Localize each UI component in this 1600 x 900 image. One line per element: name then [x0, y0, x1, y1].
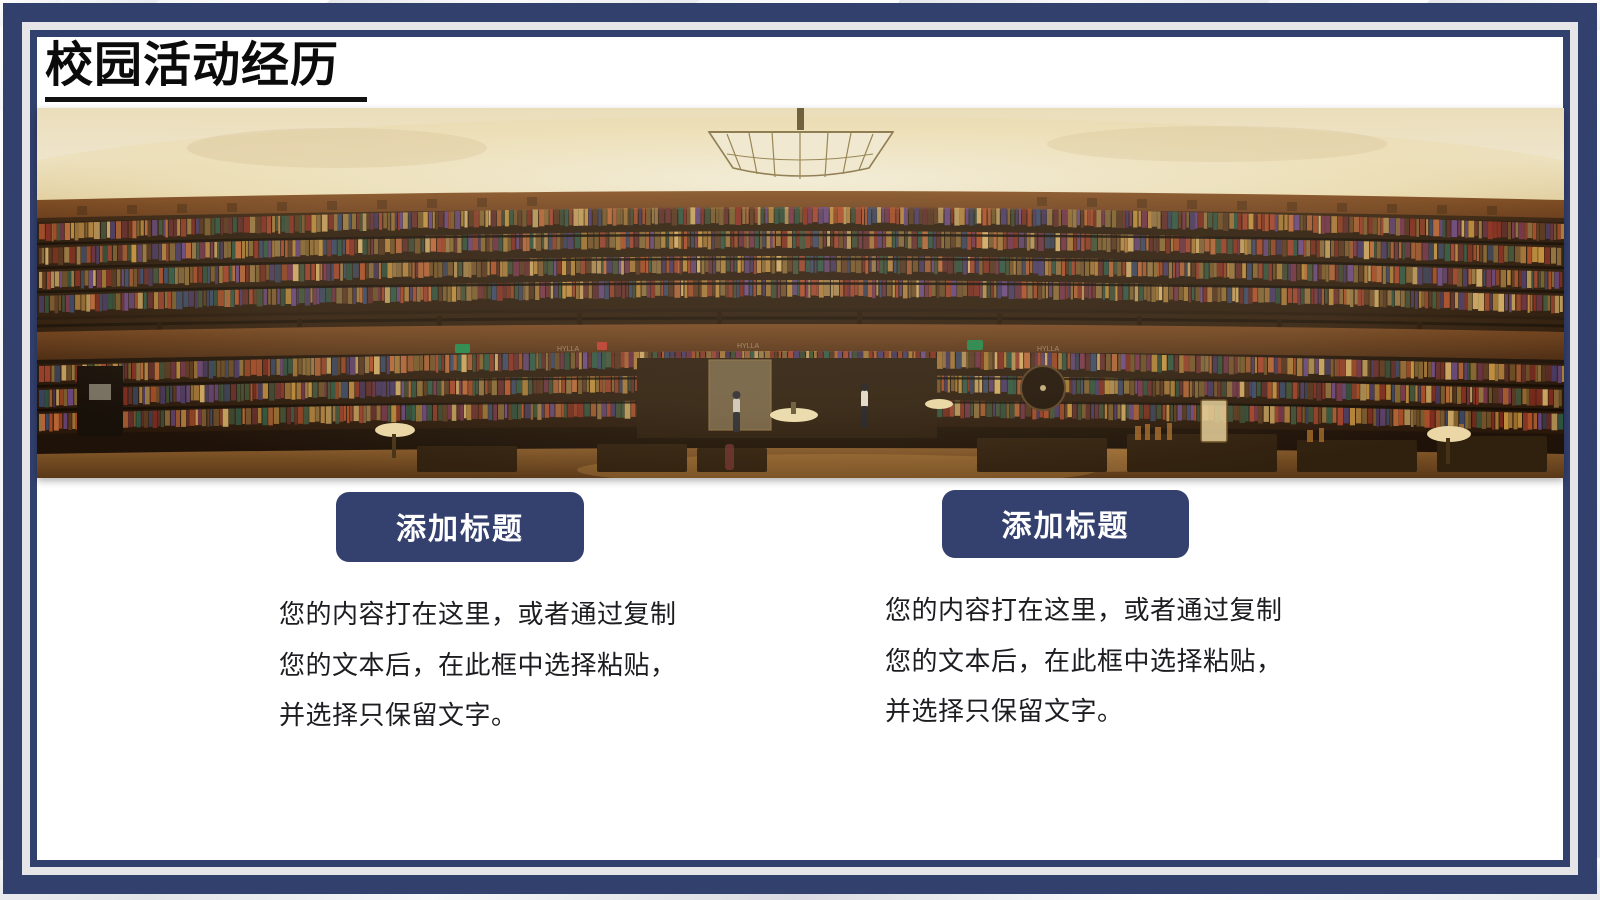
two-column-section: 添加标题 您的内容打在这里，或者通过复制您的文本后，在此框中选择粘贴，并选择只保… [37, 492, 1564, 822]
column-right: 添加标题 您的内容打在这里，或者通过复制您的文本后，在此框中选择粘贴，并选择只保… [875, 492, 1345, 737]
body-text-left: 您的内容打在这里，或者通过复制您的文本后，在此框中选择粘贴，并选择只保留文字。 [279, 589, 679, 741]
add-title-button-right[interactable]: 添加标题 [942, 490, 1189, 558]
add-title-button-left[interactable]: 添加标题 [336, 492, 584, 562]
slide-canvas: 校园活动经历 [0, 0, 1600, 900]
library-photo: HYLLAHYLLAHYLLA [37, 108, 1564, 478]
title-underline [45, 97, 367, 102]
page-title: 校园活动经历 [45, 41, 339, 91]
column-left: 添加标题 您的内容打在这里，或者通过复制您的文本后，在此框中选择粘贴，并选择只保… [259, 492, 729, 741]
content-plate: 校园活动经历 [37, 37, 1563, 860]
body-text-right: 您的内容打在这里，或者通过复制您的文本后，在此框中选择粘贴，并选择只保留文字。 [885, 585, 1285, 737]
